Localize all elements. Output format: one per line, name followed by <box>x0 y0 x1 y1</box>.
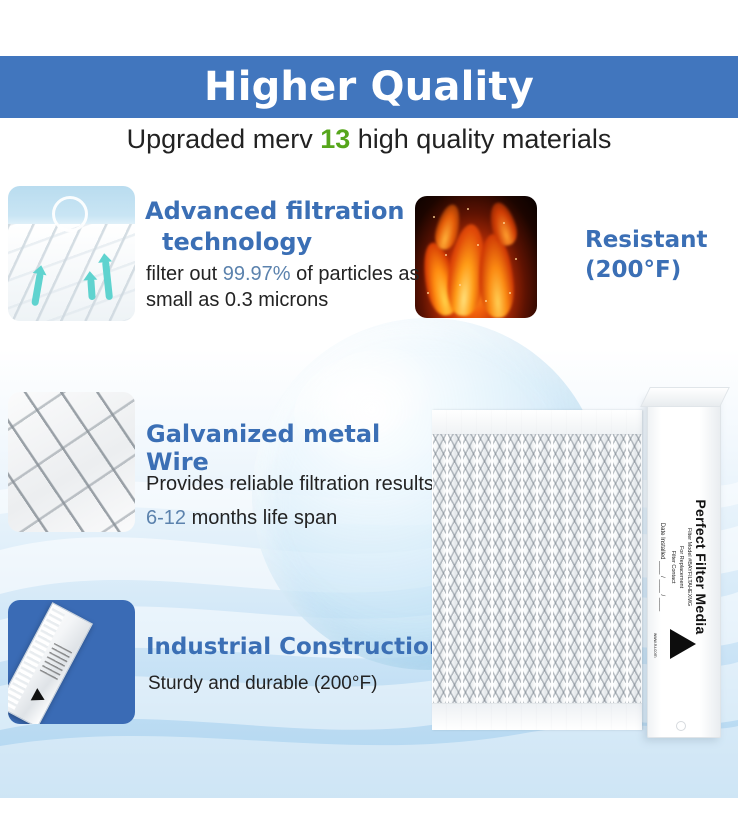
life-span-suffix: months life span <box>186 507 337 529</box>
body-suffix: of particles as <box>291 263 420 285</box>
filter-pleat <box>552 410 567 730</box>
feature-heading-heat-resistant: Resistant (200°F) <box>585 225 735 285</box>
body-line-2: small as 0.3 microns <box>146 289 328 311</box>
label-replacement: For Replacement <box>677 417 684 717</box>
airflow-direction-arrow-icon <box>670 629 696 659</box>
mesh-texture <box>8 392 135 532</box>
life-span-value: 6-12 <box>146 507 186 529</box>
label-model: Filter Model #BAYFILTAHEXMG <box>685 417 692 717</box>
filter-pleat <box>567 410 582 730</box>
body-prefix: filter out <box>146 263 223 285</box>
quilted-fabric-airflow-icon <box>8 186 135 321</box>
filter-label-text: Perfect Filter Media Filter Model #BAYFI… <box>659 417 709 717</box>
panel-top-edge <box>640 387 730 407</box>
header-banner: Higher Quality <box>0 56 738 118</box>
metal-mesh-grid-icon <box>8 392 135 532</box>
filter-pleat <box>537 410 552 730</box>
feature-body-galvanized-line2: 6-12 months life span <box>146 507 446 530</box>
feature-body-advanced-filtration: filter out 99.97% of particles as small … <box>146 261 426 313</box>
filter-pleat <box>432 410 447 730</box>
subtitle-suffix: high quality materials <box>350 124 611 154</box>
circle-outline-icon <box>52 196 88 232</box>
efficiency-value: 99.97% <box>223 263 291 285</box>
heading-line-2: technology <box>145 227 405 258</box>
airflow-direction-arrow-icon <box>31 688 48 706</box>
panel-hole <box>676 721 686 731</box>
filter-pleat <box>492 410 507 730</box>
subtitle-merv-value: 13 <box>320 124 350 154</box>
feature-heading-advanced-filtration: Advanced filtration technology <box>145 196 405 258</box>
heading-line-1: Advanced filtration <box>145 197 405 225</box>
page-title: Higher Quality <box>0 56 738 118</box>
filter-pleat <box>462 410 477 730</box>
filter-pleat <box>597 410 612 730</box>
heading-line-2: (200°F) <box>585 257 681 283</box>
filter-pleat-stack <box>432 410 648 730</box>
feature-heading-galvanized-wire: Galvanized metal Wire <box>146 420 446 476</box>
label-url: www.ru.com <box>653 633 658 658</box>
filter-pleat <box>507 410 522 730</box>
quilt-texture <box>8 224 135 321</box>
label-date-installed: Date Installed ____ / ____ / ____ <box>659 417 665 717</box>
product-infographic: Higher Quality Upgraded merv 13 high qua… <box>0 0 738 824</box>
filter-side-label-panel: Perfect Filter Media Filter Model #BAYFI… <box>647 396 721 738</box>
label-brand: Perfect Filter Media <box>693 417 709 717</box>
feature-body-industrial-construction: Sturdy and durable (200°F) <box>148 673 448 695</box>
filter-product-tile-icon <box>8 600 135 724</box>
filter-pleat <box>612 410 627 730</box>
main-product-image: Perfect Filter Media Filter Model #BAYFI… <box>432 396 722 744</box>
feature-body-galvanized-line1: Provides reliable filtration results <box>146 473 446 496</box>
label-contact: Filter Contact <box>669 417 676 717</box>
filter-pleat <box>627 410 642 730</box>
subtitle: Upgraded merv 13 high quality materials <box>0 124 738 155</box>
filter-product-thumbnail <box>8 602 93 724</box>
subtitle-prefix: Upgraded merv <box>127 124 321 154</box>
airflow-arrow-icon <box>87 278 96 300</box>
filter-pleat <box>447 410 462 730</box>
filter-pleat <box>522 410 537 730</box>
fire-flames-icon <box>415 196 537 318</box>
feature-heading-industrial-construction: Industrial Construction <box>146 634 446 660</box>
heading-line-1: Resistant <box>585 227 707 253</box>
bottom-margin <box>0 798 738 824</box>
filter-pleat <box>582 410 597 730</box>
filter-pleat <box>477 410 492 730</box>
